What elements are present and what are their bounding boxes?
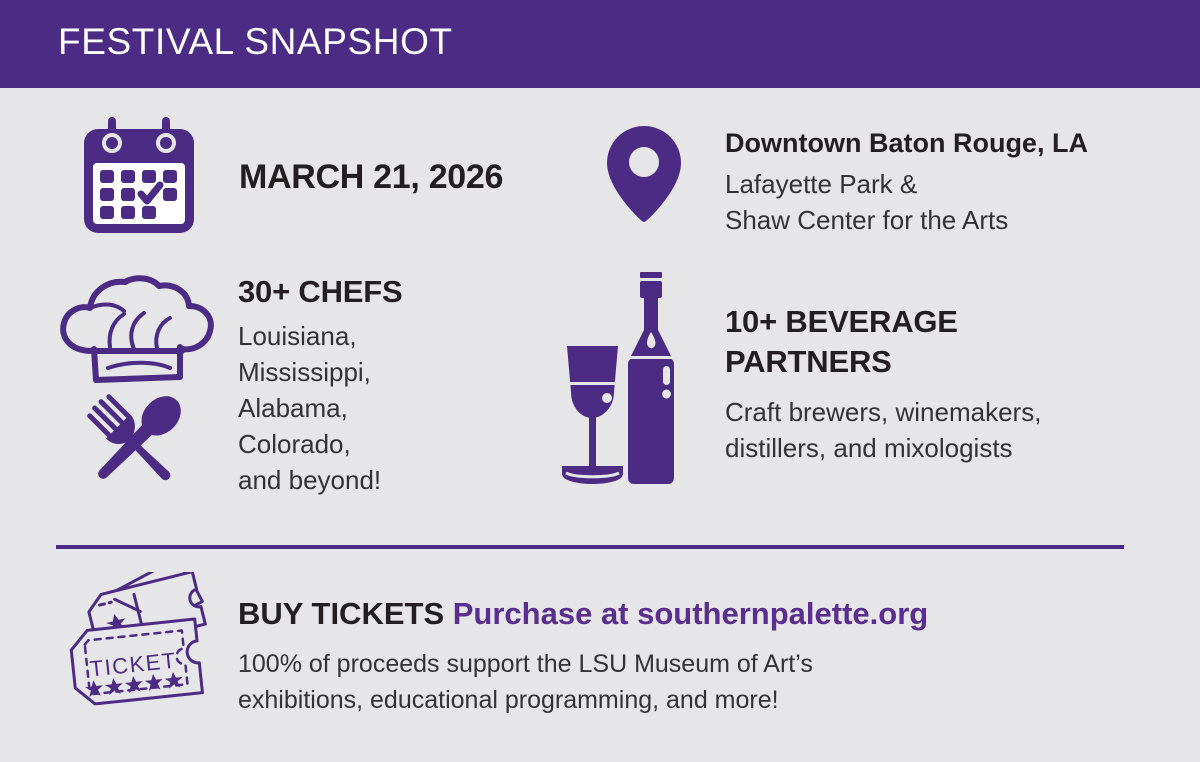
chefs-state-line-2: Mississippi, bbox=[238, 354, 528, 390]
section-divider bbox=[56, 545, 1124, 549]
location-text-block: Downtown Baton Rouge, LA Lafayette Park … bbox=[725, 126, 1185, 238]
location-venue-line-2: Shaw Center for the Arts bbox=[725, 202, 1185, 238]
tickets-heading: BUY TICKETS Purchase at southernpalette.… bbox=[238, 594, 1138, 634]
chef-hat-icon bbox=[56, 273, 218, 385]
chefs-state-line-4: Colorado, bbox=[238, 426, 528, 462]
ticket-stack-icon: TICKET bbox=[62, 572, 240, 724]
chefs-state-line-5: and beyond! bbox=[238, 462, 528, 498]
page-title: FESTIVAL SNAPSHOT bbox=[58, 21, 453, 63]
location-venue-line-1: Lafayette Park & bbox=[725, 166, 1185, 202]
beverages-line-1: Craft brewers, winemakers, bbox=[725, 394, 1145, 430]
tickets-heading-label: BUY TICKETS bbox=[238, 596, 444, 631]
beverages-heading-line-2: PARTNERS bbox=[725, 342, 1145, 382]
location-title: Downtown Baton Rouge, LA bbox=[725, 126, 1185, 160]
festival-date: MARCH 21, 2026 bbox=[239, 158, 503, 197]
calendar-icon bbox=[78, 117, 200, 235]
beverages-line-2: distillers, and mixologists bbox=[725, 430, 1145, 466]
infographic-page: FESTIVAL SNAPSHOT bbox=[0, 0, 1200, 762]
beverages-heading-line-1: 10+ BEVERAGE bbox=[725, 302, 1145, 342]
chefs-states-list: Louisiana, Mississippi, Alabama, Colorad… bbox=[238, 318, 528, 498]
chefs-state-line-1: Louisiana, bbox=[238, 318, 528, 354]
chefs-state-line-3: Alabama, bbox=[238, 390, 528, 426]
beverages-text-block: 10+ BEVERAGE PARTNERS Craft brewers, win… bbox=[725, 302, 1145, 466]
beverages-description: Craft brewers, winemakers, distillers, a… bbox=[725, 394, 1145, 466]
chefs-heading: 30+ CHEFS bbox=[238, 274, 528, 310]
tickets-purchase-link[interactable]: Purchase at southernpalette.org bbox=[453, 596, 928, 631]
tickets-proceeds-note: 100% of proceeds support the LSU Museum … bbox=[238, 646, 1138, 718]
tickets-note-line-1: 100% of proceeds support the LSU Museum … bbox=[238, 646, 1138, 682]
map-pin-icon bbox=[607, 126, 681, 222]
beverages-heading: 10+ BEVERAGE PARTNERS bbox=[725, 302, 1145, 382]
chefs-text-block: 30+ CHEFS Louisiana, Mississippi, Alabam… bbox=[238, 274, 528, 498]
header-band: FESTIVAL SNAPSHOT bbox=[0, 0, 1200, 88]
tickets-note-line-2: exhibitions, educational programming, an… bbox=[238, 682, 1138, 718]
spoon-fork-icon bbox=[72, 383, 198, 501]
location-venue: Lafayette Park & Shaw Center for the Art… bbox=[725, 166, 1185, 238]
tickets-text-block: BUY TICKETS Purchase at southernpalette.… bbox=[238, 594, 1138, 718]
wine-bottle-glass-icon bbox=[556, 270, 696, 490]
